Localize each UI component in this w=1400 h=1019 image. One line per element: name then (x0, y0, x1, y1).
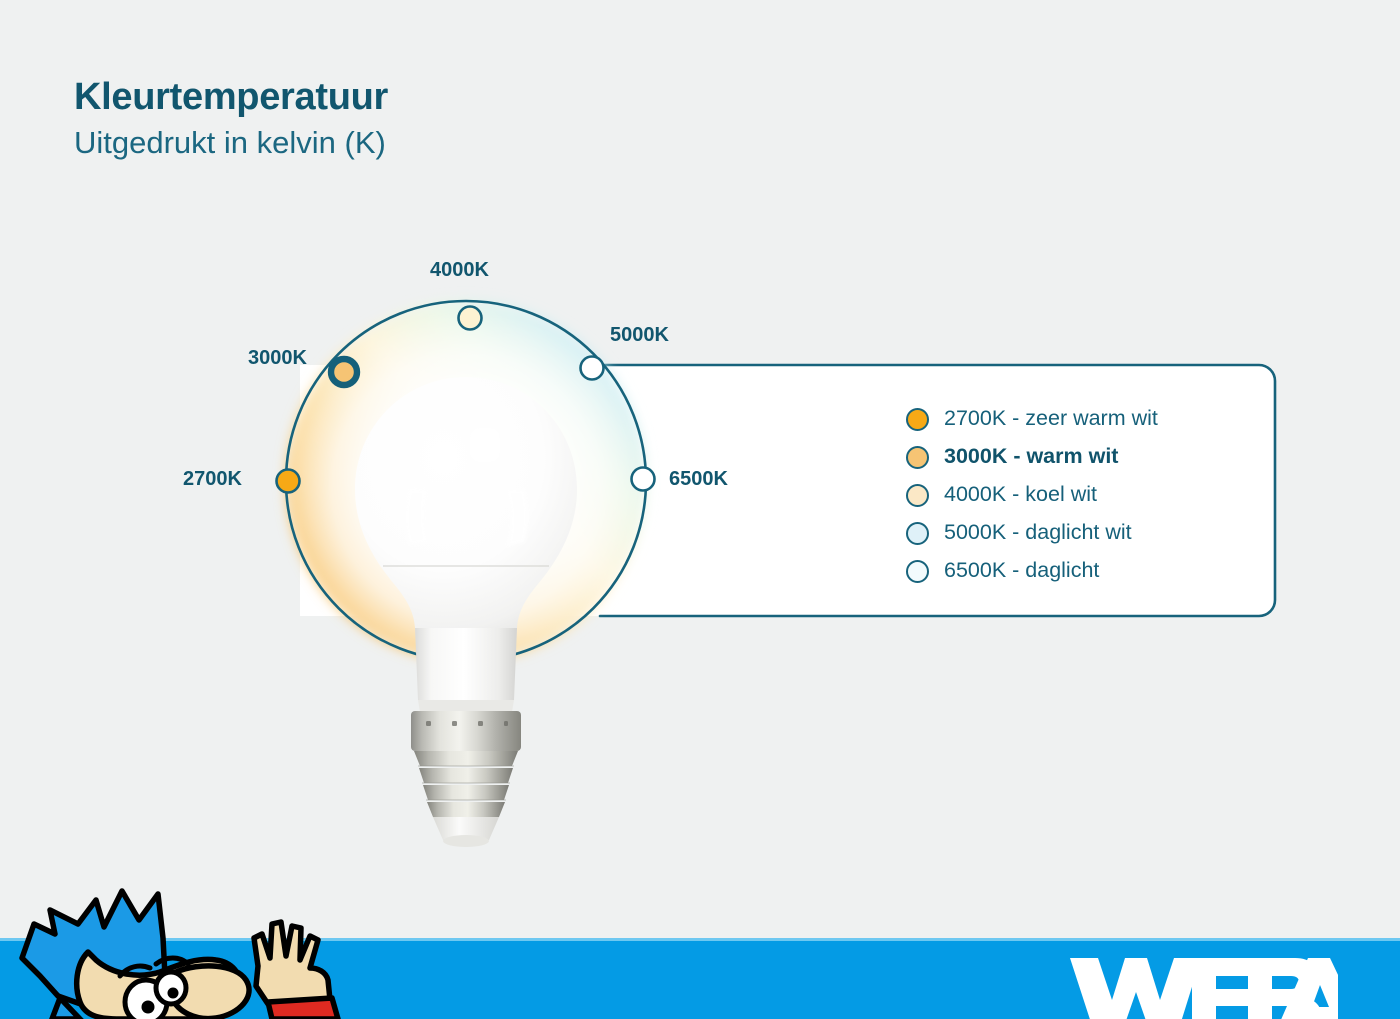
legend-item-5000k: 5000K - daglicht wit (906, 514, 1256, 552)
legend-item-4000k: 4000K - koel wit (906, 476, 1256, 514)
page-subtitle: Uitgedrukt in kelvin (K) (74, 123, 774, 163)
weba-logo (1068, 952, 1338, 1019)
legend-item-2700k: 2700K - zeer warm wit (906, 400, 1256, 438)
arc-label-6500k: 6500K (669, 469, 728, 489)
legend-item-label: 6500K - daglicht (944, 560, 1099, 582)
light-bulb-illustration (355, 377, 577, 847)
color-temperature-circle (286, 301, 646, 661)
legend-swatch-icon (906, 560, 929, 583)
legend-item-label: 5000K - daglicht wit (944, 522, 1132, 544)
marker-4000k (459, 307, 482, 330)
heading-block: Kleurtemperatuur Uitgedrukt in kelvin (K… (74, 76, 774, 163)
marker-3000k (331, 359, 357, 385)
marker-2700k (277, 470, 300, 493)
legend-swatch-icon (906, 484, 929, 507)
legend-list: 2700K - zeer warm wit 3000K - warm wit 4… (906, 400, 1256, 590)
legend-swatch-icon (906, 522, 929, 545)
arc-label-4000k: 4000K (430, 260, 489, 280)
legend-item-label: 2700K - zeer warm wit (944, 408, 1158, 430)
arc-label-3000k: 3000K (248, 348, 307, 368)
legend-item-label: 4000K - koel wit (944, 484, 1097, 506)
legend-item-3000k: 3000K - warm wit (906, 438, 1256, 476)
arc-label-2700k: 2700K (183, 469, 242, 489)
legend-item-label: 3000K - warm wit (944, 446, 1118, 468)
legend-swatch-icon (906, 446, 929, 469)
marker-6500k (632, 468, 655, 491)
legend-swatch-icon (906, 408, 929, 431)
page-title: Kleurtemperatuur (74, 76, 774, 119)
marker-nodes (277, 307, 655, 493)
marker-5000k (581, 357, 604, 380)
infographic-canvas: Kleurtemperatuur Uitgedrukt in kelvin (K… (0, 0, 1400, 1019)
legend-item-6500k: 6500K - daglicht (906, 552, 1256, 590)
mascot-illustration (0, 880, 360, 1019)
arc-label-5000k: 5000K (610, 325, 669, 345)
